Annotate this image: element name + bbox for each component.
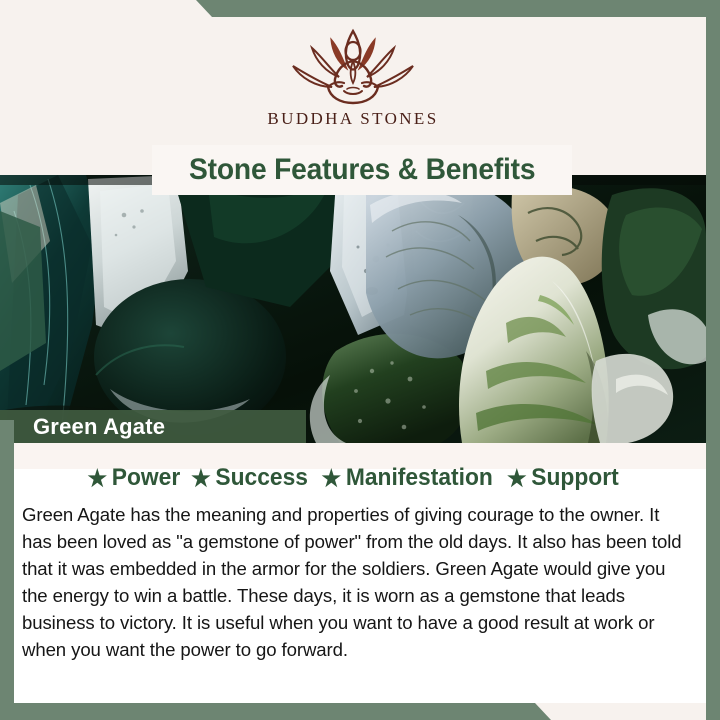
benefit-item: ★ Manifestation	[322, 464, 493, 492]
star-icon: ★	[191, 467, 211, 490]
content-card: BUDDHA STONES Stone Features & Benefits	[0, 17, 706, 703]
description-paragraph: Green Agate has the meaning and properti…	[22, 501, 683, 663]
stone-description: Green Agate has the meaning and properti…	[0, 501, 706, 663]
page-title-band: Stone Features & Benefits	[152, 145, 572, 195]
benefit-item: ★ Power	[87, 464, 180, 492]
benefit-label: Support	[531, 464, 618, 492]
benefits-row: ★ Power ★ Success ★ Manifestation ★ Supp…	[0, 464, 706, 492]
page-title: Stone Features & Benefits	[189, 153, 535, 187]
stone-photo	[0, 175, 706, 443]
infographic-page: BUDDHA STONES Stone Features & Benefits	[0, 0, 720, 720]
benefit-label: Manifestation	[346, 464, 493, 492]
description-section: ★ Power ★ Success ★ Manifestation ★ Supp…	[0, 443, 706, 703]
frame-bottom-accent	[0, 703, 720, 720]
benefit-item: ★ Success	[191, 464, 308, 492]
star-icon: ★	[322, 467, 342, 490]
frame-left-accent	[0, 420, 14, 720]
lotus-meditation-icon	[268, 25, 438, 107]
star-icon: ★	[507, 467, 527, 490]
stone-name-banner: Green Agate	[0, 410, 306, 443]
benefit-item: ★ Support	[507, 464, 619, 492]
frame-right-accent	[706, 0, 720, 720]
brand-name: BUDDHA STONES	[267, 109, 438, 129]
benefit-label: Success	[216, 464, 309, 492]
stone-name: Green Agate	[0, 414, 165, 440]
frame-top-accent	[0, 0, 720, 17]
star-icon: ★	[87, 467, 107, 490]
benefit-label: Power	[111, 464, 179, 492]
brand-logo: BUDDHA STONES	[0, 25, 706, 129]
